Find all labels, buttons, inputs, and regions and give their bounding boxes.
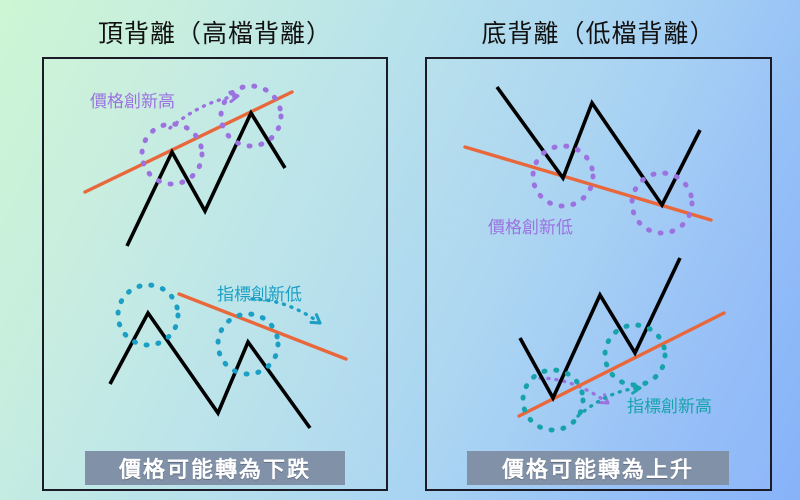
verdict-badge-bottom-divergence: 價格可能轉為上升: [467, 451, 729, 485]
panel-title-top-divergence: 頂背離（高檔背離）: [42, 14, 388, 50]
panel-top-divergence: [42, 57, 388, 491]
panel-title-bottom-divergence: 底背離（低檔背離）: [425, 14, 772, 50]
diagram-canvas: 頂背離（高檔背離） 底背離（低檔背離） 價格創新高指標創新低價格創新低指標創新高…: [0, 0, 800, 500]
verdict-badge-top-divergence: 價格可能轉為下跌: [85, 451, 345, 485]
panel-bottom-divergence: [425, 57, 772, 491]
